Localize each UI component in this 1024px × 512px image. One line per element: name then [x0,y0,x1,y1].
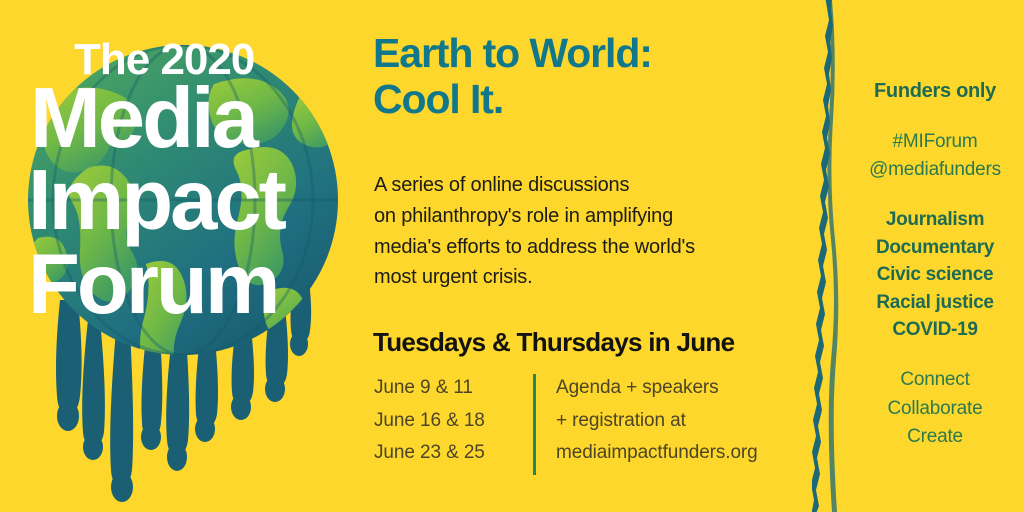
vertical-divider [533,374,536,475]
right-panel: Funders only #MIForum @mediafunders Jour… [846,0,1024,512]
event-headline: Earth to World: Cool It. [373,31,808,123]
social-handle[interactable]: @mediafunders [846,156,1024,184]
description-line-2: on philanthropy's role in amplifying [374,201,794,232]
hashtag[interactable]: #MIForum [846,128,1024,156]
topic-item: COVID-19 [846,316,1024,344]
audience-label: Funders only [846,80,1024,103]
description-line-1: A series of online discussions [374,170,794,201]
headline-line-1: Earth to World: [373,31,808,77]
detail-row: June 9 & 11 June 16 & 18 June 23 & 25 Ag… [373,372,808,478]
topic-item: Racial justice [846,289,1024,317]
actions-list: Connect Collaborate Create [846,366,1024,452]
registration-line: + registration at [556,405,811,438]
action-item: Collaborate [846,395,1024,424]
topic-item: Journalism [846,206,1024,234]
topic-item: Documentary [846,234,1024,262]
headline-line-2: Cool It. [373,77,808,123]
logo-panel: The 2020 Media Impact Forum [0,0,360,512]
brush-stroke-divider [812,0,844,512]
event-description: A series of online discussions on philan… [374,170,794,293]
registration-url[interactable]: mediaimpactfunders.org [556,437,811,470]
description-line-3: media's efforts to address the world's [374,232,794,263]
melting-globe-icon [0,0,360,512]
session-date: June 16 & 18 [374,405,524,438]
registration-info: Agenda + speakers + registration at medi… [556,372,811,470]
topic-item: Civic science [846,261,1024,289]
topics-list: Journalism Documentary Civic science Rac… [846,206,1024,344]
registration-line: Agenda + speakers [556,372,811,405]
action-item: Connect [846,366,1024,395]
session-date: June 23 & 25 [374,437,524,470]
session-date: June 9 & 11 [374,372,524,405]
action-item: Create [846,423,1024,452]
promo-poster: The 2020 Media Impact Forum Earth to Wor… [0,0,1024,512]
social-handles: #MIForum @mediafunders [846,128,1024,183]
schedule-headline: Tuesdays & Thursdays in June [373,327,734,358]
description-line-4: most urgent crisis. [374,262,794,293]
session-dates-list: June 9 & 11 June 16 & 18 June 23 & 25 [374,372,524,470]
center-panel: Earth to World: Cool It. A series of onl… [373,0,808,512]
